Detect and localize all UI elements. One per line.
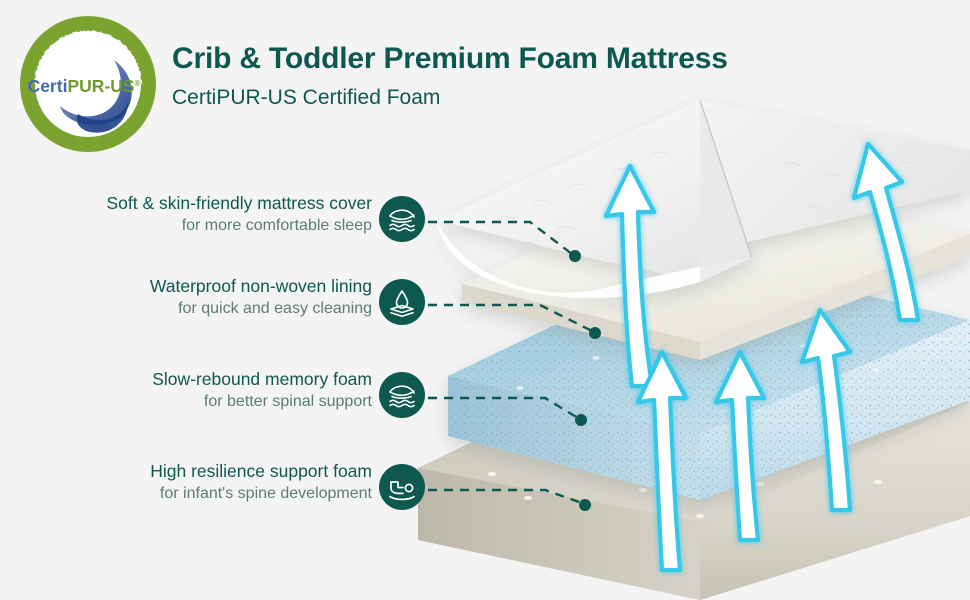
certipur-us-badge: CONTAINS CERTIFIED FLEXIBLE POLYURETHANE… [18, 14, 158, 154]
feature-item-2[interactable]: Waterproof non-woven lining for quick an… [0, 275, 430, 335]
feature-item-1[interactable]: Soft & skin-friendly mattress cover for … [0, 192, 430, 252]
product-infographic: CONTAINS CERTIFIED FLEXIBLE POLYURETHANE… [0, 0, 970, 600]
badge-center-text: CertiPUR-US® [28, 76, 141, 96]
feature-title: Waterproof non-woven lining [32, 275, 372, 298]
feature-title: Slow-rebound memory foam [32, 368, 372, 391]
feature-item-3[interactable]: Slow-rebound memory foam for better spin… [0, 368, 430, 428]
feature-subtitle: for infant's spine development [32, 483, 372, 504]
feature-subtitle: for better spinal support [32, 391, 372, 412]
feature-item-4[interactable]: High resilience support foam for infant'… [0, 460, 430, 520]
spine-support-icon [379, 464, 425, 510]
page-title: Crib & Toddler Premium Foam Mattress [172, 42, 728, 76]
feature-title: Soft & skin-friendly mattress cover [32, 192, 372, 215]
header: CONTAINS CERTIFIED FLEXIBLE POLYURETHANE… [0, 0, 970, 150]
fabric-wave-icon [379, 196, 425, 242]
feature-text-4: High resilience support foam for infant'… [32, 460, 372, 504]
feature-subtitle: for more comfortable sleep [32, 215, 372, 236]
title-block: Crib & Toddler Premium Foam Mattress Cer… [172, 42, 728, 110]
page-subtitle: CertiPUR-US Certified Foam [172, 86, 728, 110]
feature-subtitle: for quick and easy cleaning [32, 298, 372, 319]
feature-text-3: Slow-rebound memory foam for better spin… [32, 368, 372, 412]
feature-text-1: Soft & skin-friendly mattress cover for … [32, 192, 372, 236]
feature-text-2: Waterproof non-woven lining for quick an… [32, 275, 372, 319]
feature-title: High resilience support foam [32, 460, 372, 483]
water-droplet-layers-icon [379, 279, 425, 325]
fabric-wave-icon [379, 372, 425, 418]
